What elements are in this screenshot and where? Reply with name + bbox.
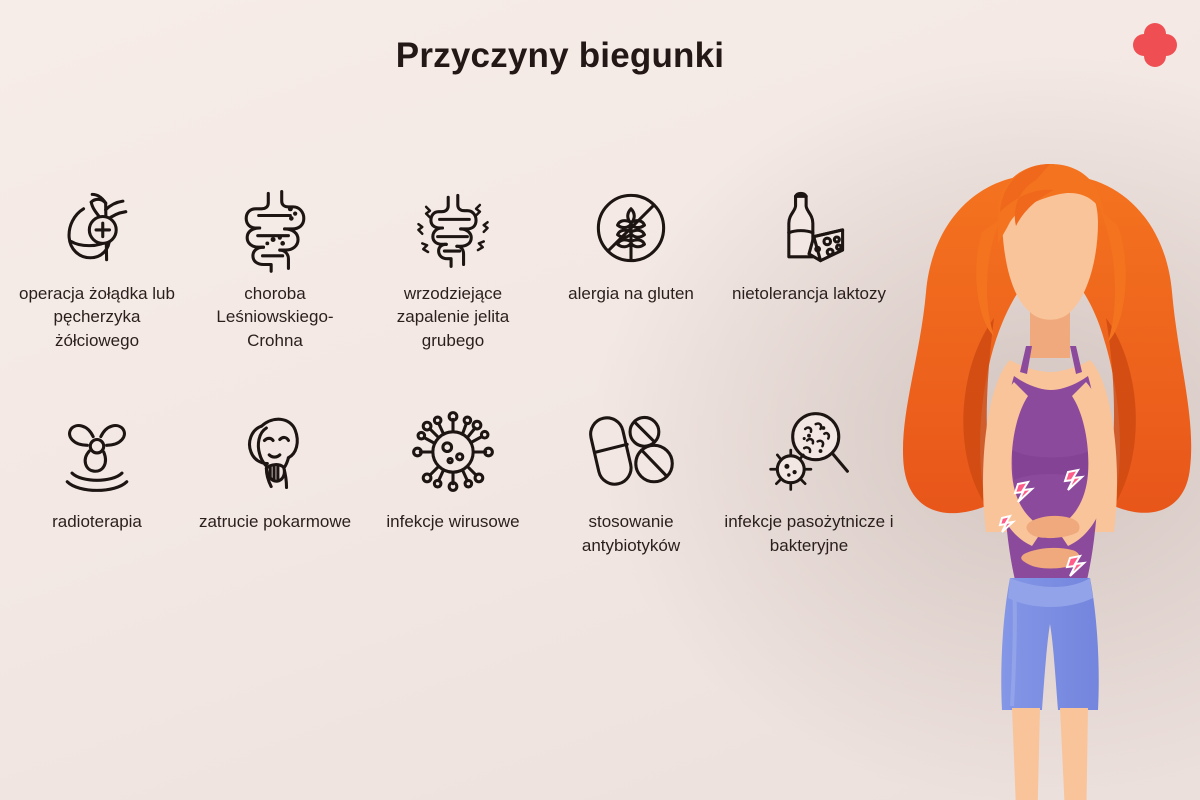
painful-intestine-icon [403, 180, 503, 276]
cause-label-8: stosowanie antybiotyków [545, 510, 717, 557]
cause-item-7: infekcje wirusowe [364, 404, 542, 533]
cause-item-4: nietolerancja laktozy [720, 180, 898, 305]
cause-label-7: infekcje wirusowe [367, 510, 539, 533]
cause-item-6: zatrucie pokarmowe [186, 404, 364, 533]
radiation-waves-icon [47, 404, 147, 500]
cause-label-4: nietolerancja laktozy [723, 282, 895, 305]
no-gluten-wheat-icon [581, 180, 681, 276]
virus-icon [403, 404, 503, 500]
causes-row-1: operacja żołądka lub pęcherzyka żółciowe… [8, 180, 928, 352]
causes-grid: operacja żołądka lub pęcherzyka żółciowe… [8, 180, 928, 557]
nauseated-person-icon [225, 404, 325, 500]
four-petal-pinwheel-logo [1128, 18, 1182, 72]
cause-label-0: operacja żołądka lub pęcherzyka żółciowe… [11, 282, 183, 352]
cause-label-2: wrzodziejące zapalenie jelita grubego [367, 282, 539, 352]
cause-label-9: infekcje pasożytnicze i bakteryjne [723, 510, 895, 557]
cause-item-2: wrzodziejące zapalenie jelita grubego [364, 180, 542, 352]
causes-row-2: radioterapia [8, 404, 928, 557]
cause-label-6: zatrucie pokarmowe [189, 510, 361, 533]
cause-item-1: choroba Leśniowskiego-Crohna [186, 180, 364, 352]
milk-bottle-cheese-icon [759, 180, 859, 276]
cause-item-3: alergia na gluten [542, 180, 720, 305]
inflamed-intestine-icon [225, 180, 325, 276]
gallbladder-surgery-icon [47, 180, 147, 276]
cause-item-5: radioterapia [8, 404, 186, 533]
cause-item-9: infekcje pasożytnicze i bakteryjne [720, 404, 898, 557]
infographic-page: Przyczyny biegunki [0, 0, 1200, 800]
cause-item-8: stosowanie antybiotyków [542, 404, 720, 557]
woman-holding-stomach-in-pain [890, 150, 1200, 800]
cause-label-5: radioterapia [11, 510, 183, 533]
pills-capsule-icon [581, 404, 681, 500]
cause-item-0: operacja żołądka lub pęcherzyka żółciowe… [8, 180, 186, 352]
cause-label-3: alergia na gluten [545, 282, 717, 305]
page-title: Przyczyny biegunki [0, 36, 1120, 76]
magnifier-bacteria-icon [759, 404, 859, 500]
cause-label-1: choroba Leśniowskiego-Crohna [189, 282, 361, 352]
